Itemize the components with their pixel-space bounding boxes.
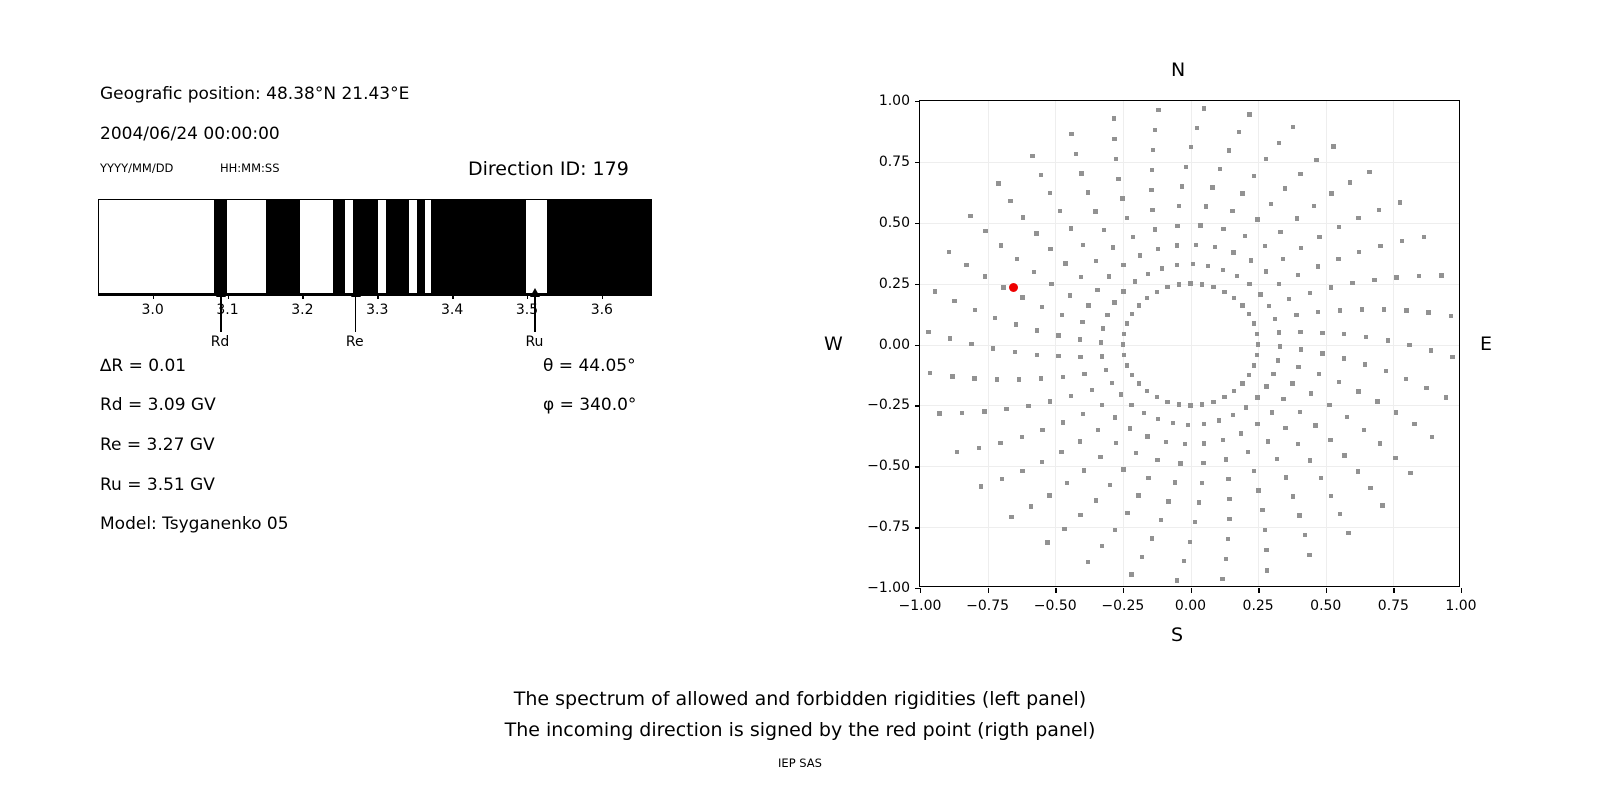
direction-point	[1069, 132, 1073, 136]
direction-point	[1035, 353, 1039, 357]
y-axis-tick-label: 0.50	[848, 215, 910, 231]
direction-point	[1317, 235, 1321, 239]
x-axis-tick	[1258, 588, 1259, 593]
direction-point	[1125, 321, 1129, 325]
direction-point	[1138, 253, 1142, 257]
direction-point	[1079, 171, 1083, 175]
direction-point	[1273, 317, 1277, 321]
direction-point	[1188, 540, 1192, 544]
direction-point	[1004, 407, 1008, 411]
marker-stem	[220, 296, 222, 332]
gridline-horizontal	[920, 345, 1459, 346]
y-axis-tick-label: 0.00	[848, 337, 910, 353]
marker-stem	[355, 296, 357, 332]
marker-label: Ru	[525, 334, 543, 350]
direction-point	[1191, 262, 1195, 266]
direction-point	[1331, 144, 1335, 148]
incoming-direction-point[interactable]	[1009, 283, 1018, 292]
direction-point	[1297, 513, 1301, 517]
direction-point	[1378, 244, 1382, 248]
y-axis-tick-label: −0.75	[848, 519, 910, 535]
rigidity-tick-label: 3.2	[291, 302, 313, 318]
footer-institution: IEP SAS	[0, 756, 1600, 770]
direction-point	[1281, 257, 1285, 261]
forbidden-band	[333, 200, 345, 293]
direction-point	[1000, 477, 1004, 481]
direction-point	[999, 243, 1003, 247]
direction-point	[1231, 413, 1235, 417]
direction-point	[1086, 560, 1090, 564]
direction-point	[1074, 152, 1078, 156]
direction-point	[1086, 303, 1090, 307]
direction-point	[1150, 208, 1154, 212]
direction-point	[1316, 264, 1320, 268]
rigidity-tick	[153, 294, 154, 299]
direction-point	[1119, 392, 1123, 396]
direction-point	[1429, 348, 1433, 352]
x-axis-tick	[1123, 588, 1124, 593]
direction-point	[1029, 504, 1033, 508]
direction-point	[1032, 270, 1036, 274]
direction-point	[1380, 503, 1384, 507]
direction-point	[1296, 273, 1300, 277]
marker-stem	[534, 296, 536, 332]
direction-point	[1252, 321, 1256, 325]
direction-point	[1342, 332, 1346, 336]
forbidden-band	[386, 200, 408, 293]
rigidity-tick	[452, 294, 453, 299]
direction-point	[1112, 300, 1116, 304]
direction-point	[1226, 537, 1230, 541]
direction-point	[1020, 469, 1024, 473]
direction-point	[1153, 128, 1157, 132]
gridline-horizontal	[920, 162, 1459, 163]
direction-point	[1086, 190, 1090, 194]
direction-point	[1337, 225, 1341, 229]
x-axis-tick	[1326, 588, 1327, 593]
direction-point	[1364, 335, 1368, 339]
param-rd: Rd = 3.09 GV	[100, 395, 216, 415]
direction-point	[1264, 269, 1268, 273]
direction-point	[1111, 245, 1115, 249]
direction-point	[1040, 305, 1044, 309]
direction-point	[1156, 417, 1160, 421]
direction-point	[1173, 480, 1177, 484]
direction-point	[1021, 215, 1025, 219]
direction-point	[1013, 350, 1017, 354]
direction-point	[1255, 395, 1259, 399]
direction-point	[1404, 308, 1408, 312]
direction-point	[983, 274, 987, 278]
param-re: Re = 3.27 GV	[100, 435, 215, 455]
direction-point	[1156, 108, 1160, 112]
direction-point	[1193, 520, 1197, 524]
direction-point	[1188, 403, 1192, 407]
direction-point	[1338, 308, 1342, 312]
direction-point	[1346, 531, 1350, 535]
rigidity-tick	[527, 294, 528, 299]
direction-point	[1231, 250, 1235, 254]
direction-point	[1202, 441, 1206, 445]
datetime-label: 2004/06/24 00:00:00	[100, 124, 280, 144]
direction-point	[1078, 355, 1082, 359]
compass-label-west: W	[824, 333, 843, 355]
direction-point	[1287, 297, 1291, 301]
direction-point	[1350, 281, 1354, 285]
param-ru: Ru = 3.51 GV	[100, 475, 215, 495]
direction-point	[1367, 170, 1371, 174]
gridline-horizontal	[920, 223, 1459, 224]
y-axis-tick-label: −0.50	[848, 458, 910, 474]
direction-map-plot: −1.00−1.00−0.75−0.75−0.50−0.50−0.25−0.25…	[919, 100, 1460, 587]
direction-point	[1056, 354, 1060, 358]
direction-point	[1240, 303, 1244, 307]
direction-point	[1307, 553, 1311, 557]
direction-point	[1222, 290, 1226, 294]
direction-map-canvas	[920, 101, 1459, 586]
direction-point	[1186, 423, 1190, 427]
direction-point	[1112, 116, 1116, 120]
direction-point	[1309, 391, 1313, 395]
direction-point	[1069, 394, 1073, 398]
direction-point	[1314, 158, 1318, 162]
direction-point	[1056, 333, 1060, 337]
direction-point	[1256, 342, 1260, 346]
marker-label: Re	[346, 334, 364, 350]
forbidden-band	[353, 200, 378, 293]
marker-arrowhead	[351, 288, 361, 297]
direction-point	[1298, 330, 1302, 334]
direction-point	[1113, 528, 1117, 532]
direction-point	[1394, 410, 1398, 414]
direction-point	[1239, 431, 1243, 435]
direction-point	[1319, 476, 1323, 480]
direction-point	[969, 342, 973, 346]
y-axis-tick	[915, 101, 920, 102]
direction-point	[1108, 483, 1112, 487]
direction-point	[1112, 137, 1116, 141]
direction-point	[1291, 125, 1295, 129]
direction-point	[1338, 512, 1342, 516]
direction-point	[1125, 216, 1129, 220]
y-axis-tick	[915, 345, 920, 346]
direction-point	[1384, 369, 1388, 373]
direction-point	[1204, 204, 1208, 208]
direction-point	[1336, 257, 1340, 261]
direction-point	[995, 377, 999, 381]
direction-point	[1298, 410, 1302, 414]
direction-point	[983, 229, 987, 233]
direction-point	[1227, 517, 1231, 521]
gridline-vertical	[1326, 101, 1327, 586]
direction-point	[1001, 285, 1005, 289]
direction-point	[950, 374, 954, 378]
direction-point	[1252, 363, 1256, 367]
direction-point	[1320, 351, 1324, 355]
date-format-hint: YYYY/MM/DD	[100, 161, 173, 175]
direction-point	[1264, 157, 1268, 161]
direction-point	[1375, 399, 1379, 403]
direction-point	[1200, 481, 1204, 485]
direction-point	[1095, 288, 1099, 292]
direction-point	[1065, 481, 1069, 485]
direction-point	[926, 330, 930, 334]
x-axis-tick	[1461, 588, 1462, 593]
direction-point	[1164, 440, 1168, 444]
direction-point	[1255, 422, 1259, 426]
direction-point	[1206, 264, 1210, 268]
direction-point	[1048, 399, 1052, 403]
direction-point	[1184, 165, 1188, 169]
geographic-position-label: Geografic position: 48.38°N 21.43°E	[100, 84, 409, 104]
direction-point	[1227, 148, 1231, 152]
direction-point	[1030, 154, 1034, 158]
direction-point	[1129, 403, 1133, 407]
direction-point	[1232, 296, 1236, 300]
gridline-horizontal	[920, 527, 1459, 528]
direction-point	[1061, 375, 1065, 379]
direction-point	[1412, 422, 1416, 426]
direction-point	[1189, 145, 1193, 149]
direction-point	[1078, 439, 1082, 443]
direction-point	[1121, 289, 1125, 293]
direction-point	[960, 411, 964, 415]
direction-point	[1283, 186, 1287, 190]
direction-point	[1422, 235, 1426, 239]
direction-point	[1320, 331, 1324, 335]
direction-point	[1082, 468, 1086, 472]
direction-point	[1114, 157, 1118, 161]
direction-point	[1398, 200, 1402, 204]
direction-point	[1263, 528, 1267, 532]
direction-point	[1177, 204, 1181, 208]
direction-point	[998, 441, 1002, 445]
direction-point	[1296, 442, 1300, 446]
direction-point	[1047, 493, 1051, 497]
direction-point	[1068, 293, 1072, 297]
direction-point	[1014, 322, 1018, 326]
rigidity-spectrum-bar	[98, 199, 652, 294]
param-model: Model: Tsyganenko 05	[100, 514, 289, 534]
direction-point	[1372, 278, 1376, 282]
direction-point	[1271, 372, 1275, 376]
direction-point	[1183, 442, 1187, 446]
direction-point	[1439, 273, 1443, 277]
marker-arrowhead	[530, 288, 540, 297]
rigidity-tick	[302, 294, 303, 299]
direction-point	[1059, 450, 1063, 454]
gridline-vertical	[1191, 101, 1192, 586]
direction-point	[1107, 274, 1111, 278]
direction-point	[1198, 223, 1202, 227]
rigidity-tick-label: 3.4	[441, 302, 463, 318]
direction-point	[996, 181, 1000, 185]
y-axis-tick-label: −0.25	[848, 397, 910, 413]
direction-point	[1153, 227, 1157, 231]
direction-point	[1430, 435, 1434, 439]
rigidity-tick-label: 3.3	[366, 302, 388, 318]
direction-point	[1255, 353, 1259, 357]
direction-point	[1299, 246, 1303, 250]
direction-point	[1316, 310, 1320, 314]
param-theta: θ = 44.05°	[543, 356, 636, 376]
direction-point	[1035, 328, 1039, 332]
direction-point	[1356, 216, 1360, 220]
direction-point	[1017, 377, 1021, 381]
marker-arrowhead	[216, 288, 226, 297]
direction-point	[1040, 460, 1044, 464]
direction-point	[1283, 426, 1287, 430]
direction-point	[1342, 356, 1346, 360]
time-format-hint: HH:MM:SS	[220, 161, 280, 175]
direction-point	[1382, 307, 1386, 311]
x-axis-tick-label: 0.25	[1243, 598, 1274, 614]
direction-point	[1368, 486, 1372, 490]
direction-point	[1159, 518, 1163, 522]
direction-point	[1146, 476, 1150, 480]
direction-point	[1155, 290, 1159, 294]
caption-line-1: The spectrum of allowed and forbidden ri…	[0, 688, 1600, 710]
direction-point	[1221, 268, 1225, 272]
direction-point	[1426, 310, 1430, 314]
gridline-vertical	[988, 101, 989, 586]
direction-point	[1080, 320, 1084, 324]
direction-point	[1149, 188, 1153, 192]
direction-point	[1137, 381, 1141, 385]
direction-point	[991, 346, 995, 350]
direction-point	[1265, 568, 1269, 572]
direction-point	[1329, 191, 1333, 195]
direction-point	[1081, 412, 1085, 416]
forbidden-band	[266, 200, 300, 293]
x-axis-tick-label: 0.00	[1175, 598, 1206, 614]
direction-point	[1078, 513, 1082, 517]
direction-point	[1142, 411, 1146, 415]
direction-point	[1049, 282, 1053, 286]
direction-point	[1386, 338, 1390, 342]
rigidity-axis: 3.03.13.23.33.43.53.6RdReRu	[98, 294, 652, 296]
direction-point	[1113, 415, 1117, 419]
direction-point	[1155, 458, 1159, 462]
direction-point	[1125, 511, 1129, 515]
direction-point	[1171, 421, 1175, 425]
direction-point	[1290, 381, 1294, 385]
direction-point	[1312, 204, 1316, 208]
direction-point	[1188, 281, 1192, 285]
direction-point	[1221, 438, 1225, 442]
direction-point	[1378, 441, 1382, 445]
rigidity-tick	[228, 294, 229, 299]
direction-point	[1062, 527, 1066, 531]
direction-point	[1232, 389, 1236, 393]
direction-point	[1008, 199, 1012, 203]
direction-point	[1114, 441, 1118, 445]
direction-point	[1101, 326, 1105, 330]
x-axis-tick-label: 0.75	[1378, 598, 1409, 614]
direction-point	[1417, 274, 1421, 278]
direction-point	[979, 484, 983, 488]
direction-point	[1195, 126, 1199, 130]
direction-point	[1140, 555, 1144, 559]
direction-point	[1328, 438, 1332, 442]
direction-point	[1345, 415, 1349, 419]
param-delta-r: ∆R = 0.01	[100, 356, 186, 376]
direction-point	[1226, 477, 1230, 481]
direction-point	[1356, 389, 1360, 393]
direction-point	[1099, 340, 1103, 344]
direction-point	[1121, 342, 1125, 346]
direction-point	[1408, 471, 1412, 475]
direction-point	[1020, 435, 1024, 439]
direction-point	[1201, 461, 1205, 465]
direction-point	[1155, 395, 1159, 399]
direction-point	[1264, 548, 1268, 552]
direction-point	[952, 299, 956, 303]
direction-point	[1105, 313, 1109, 317]
direction-point	[1327, 403, 1331, 407]
direction-point	[1102, 228, 1106, 232]
direction-point	[968, 214, 972, 218]
direction-point	[1100, 544, 1104, 548]
x-axis-tick	[988, 588, 989, 593]
direction-point	[1146, 272, 1150, 276]
direction-point	[1222, 395, 1226, 399]
direction-point	[1039, 173, 1043, 177]
direction-point	[1048, 191, 1052, 195]
direction-point	[982, 409, 986, 413]
direction-point	[1407, 343, 1411, 347]
direction-point	[1363, 362, 1367, 366]
direction-point	[1217, 418, 1221, 422]
direction-point	[1020, 295, 1024, 299]
forbidden-band	[431, 200, 526, 293]
compass-label-south: S	[1171, 624, 1183, 646]
rigidity-tick-label: 3.6	[591, 302, 613, 318]
direction-point	[1060, 313, 1064, 317]
direction-point	[1295, 216, 1299, 220]
direction-point	[1202, 106, 1206, 110]
direction-point	[1246, 450, 1250, 454]
y-axis-tick	[915, 405, 920, 406]
direction-point	[1178, 461, 1182, 465]
direction-point	[1120, 196, 1124, 200]
param-phi: φ = 340.0°	[543, 395, 636, 415]
x-axis-tick-label: −1.00	[899, 598, 942, 614]
direction-point	[1281, 397, 1285, 401]
direction-point	[1264, 384, 1268, 388]
y-axis-tick	[915, 466, 920, 467]
marker-label: Rd	[211, 334, 230, 350]
direction-point	[1266, 439, 1270, 443]
direction-point	[1247, 112, 1251, 116]
direction-point	[1278, 230, 1282, 234]
direction-point	[1240, 381, 1244, 385]
direction-point	[1211, 400, 1215, 404]
direction-point	[1243, 234, 1247, 238]
forbidden-band	[214, 200, 227, 293]
direction-point	[1177, 402, 1181, 406]
x-axis-tick	[1191, 588, 1192, 593]
direction-point	[1404, 377, 1408, 381]
direction-point	[1175, 224, 1179, 228]
compass-label-east: E	[1480, 333, 1492, 355]
y-axis-tick	[915, 223, 920, 224]
direction-point	[1121, 467, 1125, 471]
direction-point	[1177, 282, 1181, 286]
rigidity-tick-label: 3.0	[142, 302, 164, 318]
direction-point	[1329, 494, 1333, 498]
direction-point	[1313, 423, 1317, 427]
